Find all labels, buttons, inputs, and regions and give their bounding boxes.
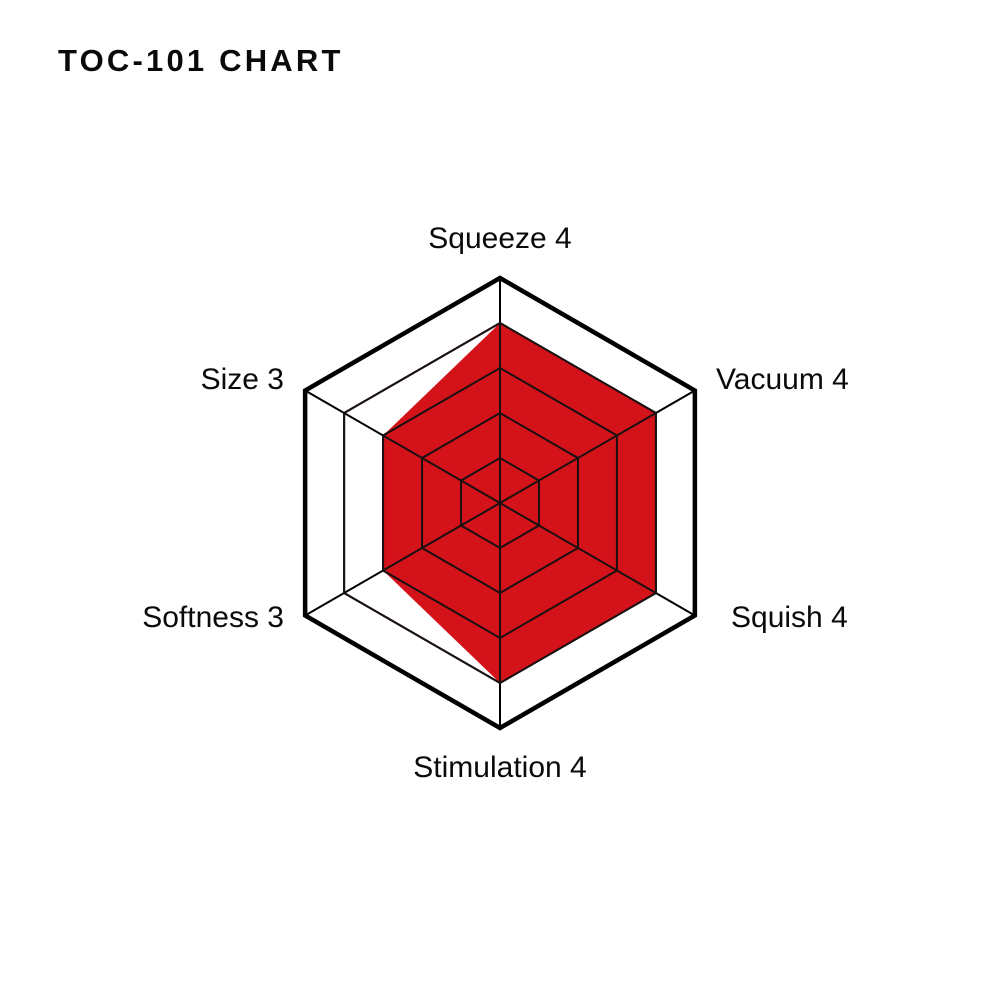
axis-label-softness: Softness 3	[142, 601, 284, 635]
radar-chart: Squeeze 4 Vacuum 4 Squish 4 Stimulation …	[0, 0, 1000, 1000]
axis-label-stimulation: Stimulation 4	[413, 751, 586, 785]
axis-label-size: Size 3	[201, 363, 284, 397]
radar-data-polygon	[383, 323, 656, 683]
axis-label-squeeze: Squeeze 4	[428, 222, 571, 256]
page-root: TOC-101 CHART	[0, 0, 1000, 1000]
axis-label-squish: Squish 4	[731, 601, 848, 635]
axis-label-vacuum: Vacuum 4	[716, 363, 849, 397]
radar-chart-svg	[0, 0, 1000, 1000]
